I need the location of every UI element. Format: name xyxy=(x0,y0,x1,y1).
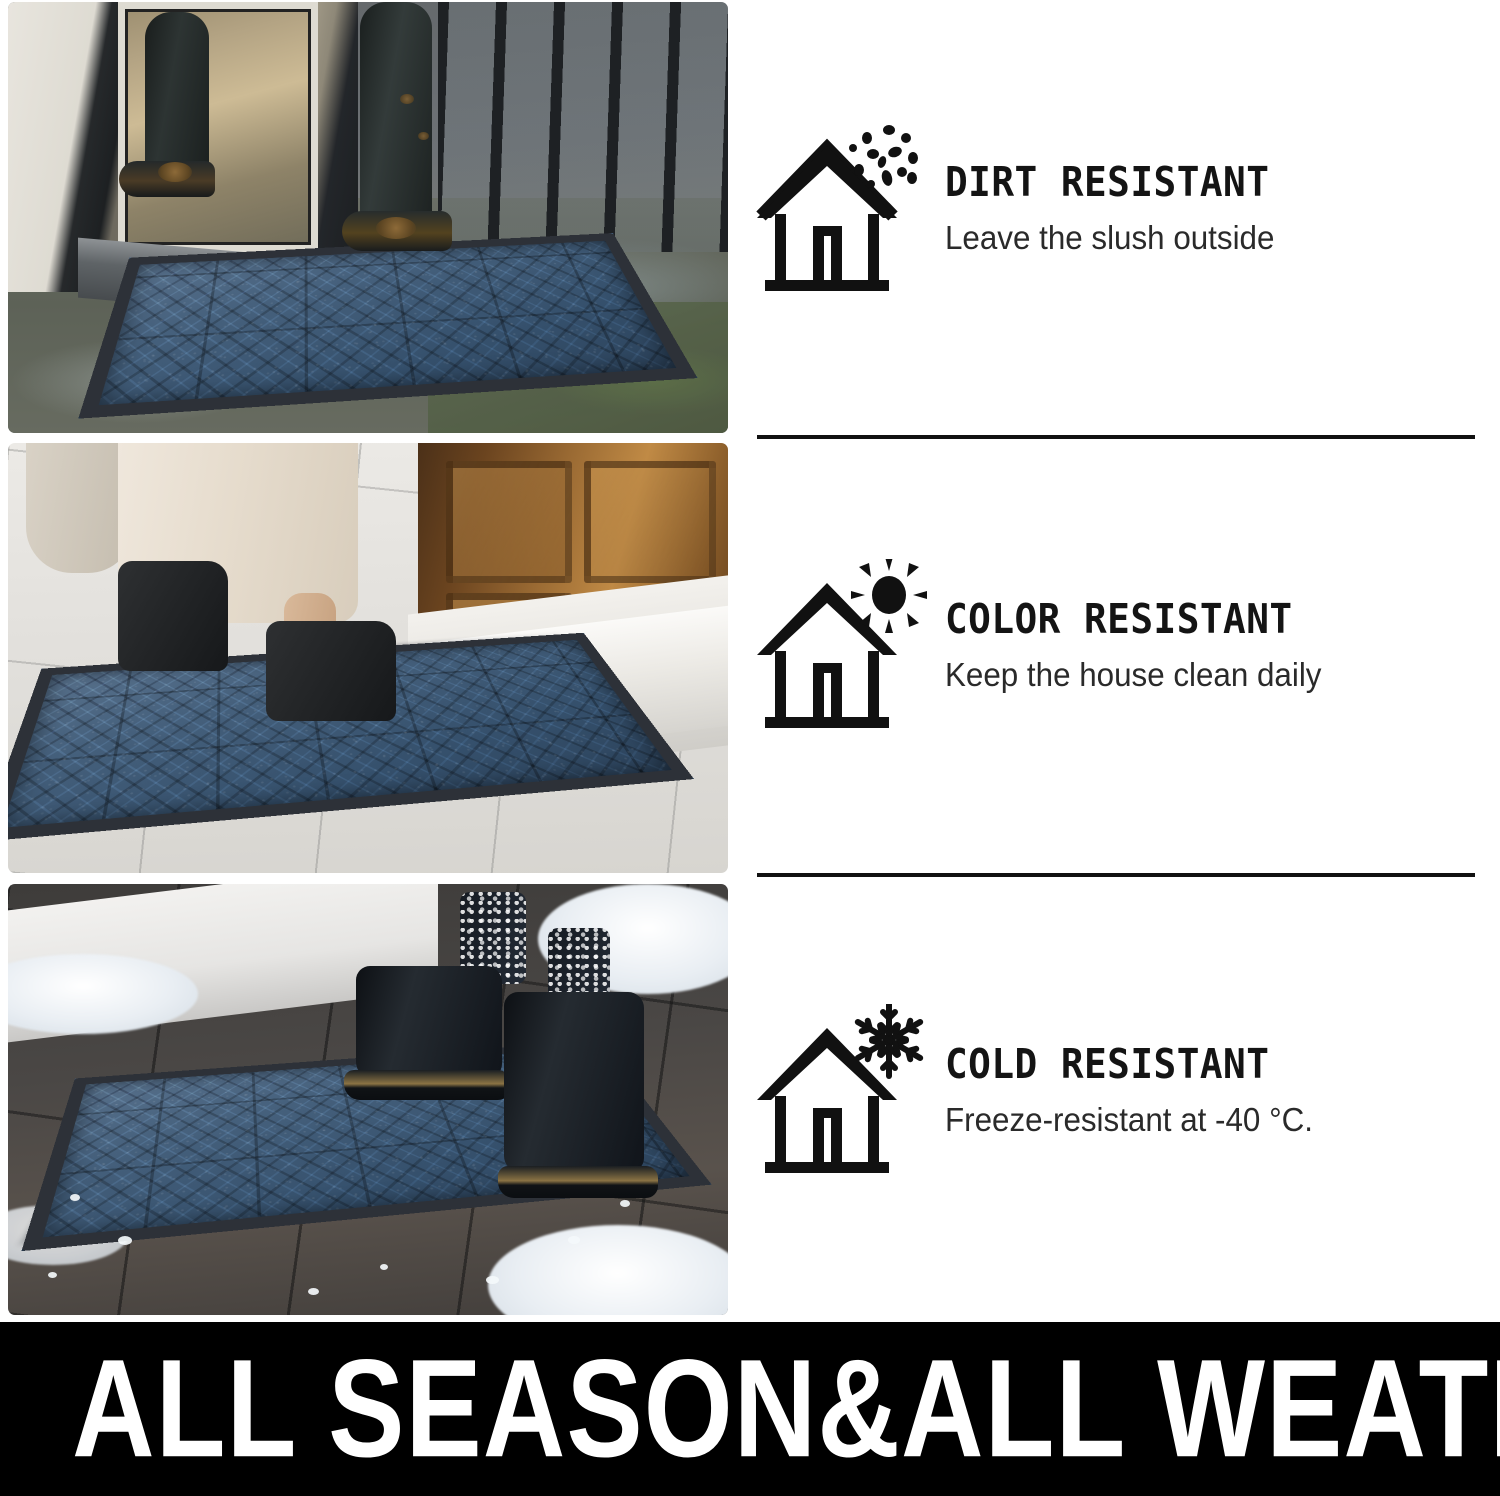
photo2-sandal-left xyxy=(118,561,228,671)
snowy-step-winter-boots-photo xyxy=(8,884,728,1315)
photo2-sandal-right xyxy=(266,621,396,721)
feature-text-block: COLD RESISTANT Freeze-resistant at -40 °… xyxy=(945,1000,1475,1141)
banner-headline: ALL SEASON&ALL WEATHER xyxy=(72,1339,1500,1478)
sunny-porch-sandals-photo xyxy=(8,443,728,873)
feature-title: COLD RESISTANT xyxy=(945,1044,1433,1085)
house-with-snowflake-icon xyxy=(755,1000,945,1181)
feature-divider xyxy=(757,873,1475,877)
feature-divider xyxy=(757,435,1475,439)
feature-subtitle: Leave the slush outside xyxy=(945,217,1363,259)
rainy-doorway-muddy-boots-photo xyxy=(8,2,728,433)
feature-color-resistant: COLOR RESISTANT Keep the house clean dai… xyxy=(755,555,1475,736)
feature-text-block: DIRT RESISTANT Leave the slush outside xyxy=(945,118,1475,259)
photo1-railing xyxy=(438,2,728,252)
photo-column xyxy=(8,0,728,1318)
feature-subtitle: Freeze-resistant at -40 °C. xyxy=(945,1099,1363,1141)
photo3-boot-right xyxy=(504,992,644,1172)
feature-title: DIRT RESISTANT xyxy=(945,162,1433,203)
feature-subtitle: Keep the house clean daily xyxy=(945,654,1363,696)
feature-dirt-resistant: DIRT RESISTANT Leave the slush outside xyxy=(755,118,1475,299)
house-with-sun-icon xyxy=(755,555,945,736)
photo3-boot-left xyxy=(356,966,502,1078)
feature-list: DIRT RESISTANT Leave the slush outside xyxy=(755,0,1490,1318)
feature-title: COLOR RESISTANT xyxy=(945,599,1433,640)
photo1-boot-right xyxy=(360,2,432,237)
house-with-dirt-specks-icon xyxy=(755,118,945,299)
photo1-boot-left xyxy=(145,12,209,187)
feature-text-block: COLOR RESISTANT Keep the house clean dai… xyxy=(945,555,1475,696)
product-infographic: DIRT RESISTANT Leave the slush outside xyxy=(0,0,1500,1496)
feature-cold-resistant: COLD RESISTANT Freeze-resistant at -40 °… xyxy=(755,1000,1475,1181)
bottom-banner: ALL SEASON&ALL WEATHER xyxy=(0,1322,1500,1496)
